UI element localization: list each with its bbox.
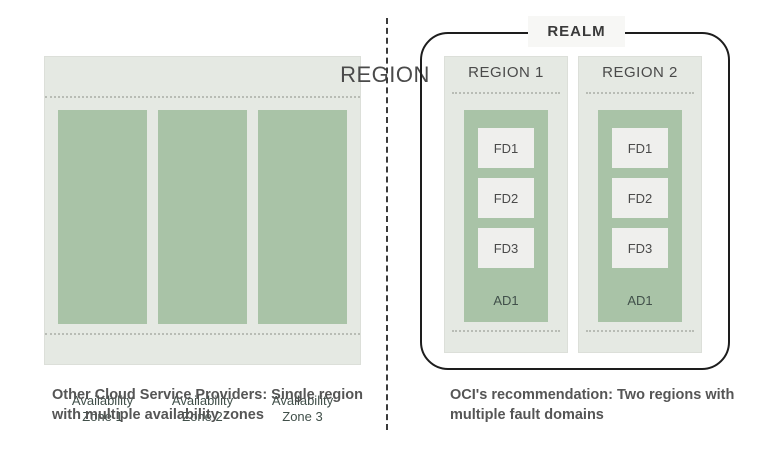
region-1-divider-top — [452, 92, 560, 94]
panel-divider — [386, 18, 388, 430]
region-2-divider-bottom — [586, 330, 694, 332]
realm-label: REALM — [547, 23, 605, 40]
region-1-divider-bottom — [452, 330, 560, 332]
region-1-fault-domain-3: FD3 — [478, 228, 534, 268]
right-panel-caption: OCI's recommendation: Two regions with m… — [450, 385, 750, 425]
region-2-fault-domain-3: FD3 — [612, 228, 668, 268]
availability-zone-1: Availability Zone 1 — [58, 110, 147, 324]
left-panel-caption: Other Cloud Service Providers: Single re… — [52, 385, 372, 425]
region-2-divider-top — [586, 92, 694, 94]
region-2-availability-domain-label: AD1 — [598, 293, 682, 308]
region-divider-bottom — [45, 333, 360, 335]
region-2-fault-domain-1: FD1 — [612, 128, 668, 168]
region-2-fault-domain-2: FD2 — [612, 178, 668, 218]
region-divider-top — [45, 96, 360, 98]
left-caption-line1: Other Cloud Service Providers: Single re… — [52, 387, 363, 403]
region-2-availability-domain: FD1 FD2 FD3 AD1 — [598, 110, 682, 322]
architecture-diagram: REGION Availability Zone 1 Availability … — [0, 0, 770, 450]
region-1-fault-domain-2: FD2 — [478, 178, 534, 218]
region-1-availability-domain: FD1 FD2 FD3 AD1 — [464, 110, 548, 322]
left-caption-line2: with multiple availability zones — [52, 407, 264, 423]
realm-label-box: REALM — [528, 16, 625, 47]
right-caption-line1: OCI's recommendation: Two regions — [450, 387, 701, 403]
region-1-fault-domain-1: FD1 — [478, 128, 534, 168]
region-2-title: REGION 2 — [578, 64, 702, 81]
region-1-title: REGION 1 — [444, 64, 568, 81]
availability-zone-3: Availability Zone 3 — [258, 110, 347, 324]
availability-zone-2: Availability Zone 2 — [158, 110, 247, 324]
region-1-availability-domain-label: AD1 — [464, 293, 548, 308]
